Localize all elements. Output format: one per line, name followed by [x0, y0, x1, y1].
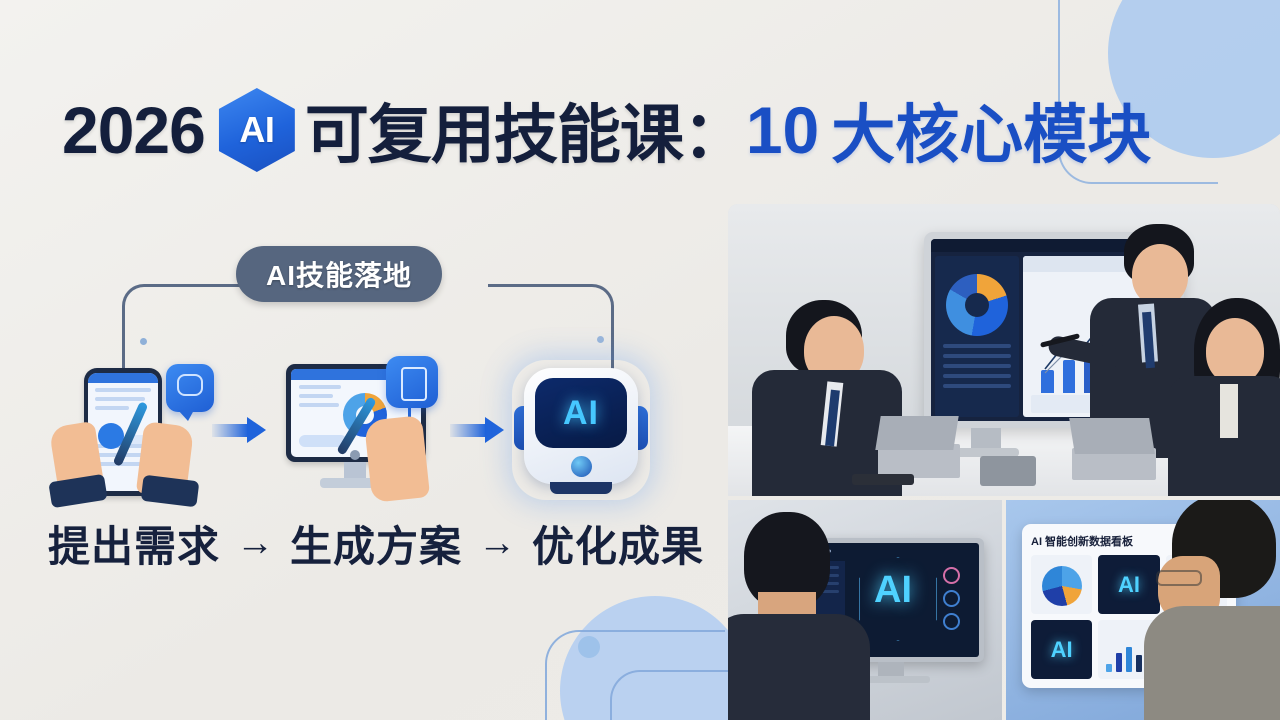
metric-ring [943, 613, 960, 630]
blouse [1220, 384, 1238, 438]
bar [1106, 664, 1112, 672]
bar [1126, 647, 1132, 672]
title-main-dark: 可复用技能课： [305, 84, 746, 176]
step-label-2: 生成方案 [290, 513, 462, 574]
monitor-text-line [299, 385, 341, 389]
torso [728, 614, 870, 720]
title-number: 10 [746, 92, 819, 168]
right-sleeve [141, 475, 200, 508]
flow-caption: 提出需求 → 生成方案 → 优化成果 [48, 513, 704, 574]
phone-text-line [95, 406, 129, 410]
torso [1144, 606, 1280, 720]
robot-base [550, 482, 612, 494]
person-viewing [1150, 500, 1280, 720]
chat-glyph [177, 374, 203, 396]
monitor-text-line [299, 394, 333, 398]
sidebar-line [943, 354, 1011, 358]
phone-text-line [95, 397, 145, 401]
robot-screen-label: AI [563, 394, 599, 433]
monitor-text-line [299, 403, 339, 407]
bar [1136, 655, 1142, 672]
donut-chart [946, 274, 1008, 336]
title-year: 2026 [62, 92, 205, 168]
phone-stylus-icon [40, 350, 210, 510]
caption-arrow-icon-2: → [478, 522, 516, 565]
arrow-shaft [450, 424, 486, 437]
arrow-head [485, 417, 504, 443]
arrow-head [247, 417, 266, 443]
arrow-shaft [212, 424, 248, 437]
ai-hologram-photo: ● ● ● AI [728, 500, 1002, 720]
page-title: 2026 AI 可复用技能课： 10 大核心模块 [62, 84, 1151, 176]
tablet-device-icon [386, 356, 438, 408]
robot-button [571, 456, 592, 477]
desk-item [852, 474, 914, 485]
caption-arrow-icon-1: → [236, 522, 274, 565]
face [1206, 318, 1264, 384]
imac-neck [971, 428, 1001, 450]
chat-bubble-icon [166, 364, 214, 412]
person-viewing [728, 510, 860, 720]
ai-robot-icon: AI [506, 350, 656, 510]
ai-badge-label: AI [239, 109, 274, 151]
glasses-icon [1156, 570, 1202, 586]
ai-board-photo: AI 智能创新数据看板 AI AI [1006, 500, 1280, 720]
pill-label: AI技能落地 [266, 254, 412, 294]
monitor-chart-icon [268, 350, 448, 510]
monitor-logo-dot [350, 450, 360, 460]
status-badge-pill: AI技能落地 [236, 246, 442, 302]
arrow-right-icon-1 [212, 417, 266, 443]
laptop-screen-right [1069, 418, 1155, 454]
hand-pointing [364, 415, 430, 503]
sidebar-line [943, 344, 1011, 348]
phone-text-line [95, 388, 151, 392]
flow-diagram: AI [40, 350, 700, 510]
step-label-3: 优化成果 [532, 513, 704, 574]
sidebar-line [943, 374, 1011, 378]
metric-ring [943, 590, 960, 607]
ai-hexagon-badge-icon: AI [219, 88, 295, 172]
robot-face-screen: AI [535, 378, 627, 448]
decor-line-bottom-outer [545, 630, 725, 720]
decor-circle-bottom-center [560, 596, 750, 720]
sidebar-line [943, 384, 1011, 388]
phone-topbar [88, 373, 158, 383]
bar [1116, 653, 1122, 672]
laptop-screen-left [875, 416, 958, 450]
sidebar-line [943, 364, 1011, 368]
meeting-dashboard-photo [728, 204, 1280, 496]
ai-tile-label: AI [1118, 572, 1140, 598]
metric-ring [943, 567, 960, 584]
arrow-right-icon-2 [450, 417, 504, 443]
slide-canvas: 2026 AI 可复用技能课： 10 大核心模块 AI技能落地 [0, 0, 1280, 720]
ai-tile-bottom: AI [1031, 620, 1092, 679]
decor-dot-bottom [578, 636, 600, 658]
face [1132, 244, 1188, 306]
robot-head: AI [524, 368, 638, 484]
pie-chart [1042, 566, 1082, 606]
pie-chart-card [1031, 555, 1092, 614]
screen-right-panel [927, 561, 975, 651]
photo-collage: ● ● ● AI [728, 204, 1280, 720]
dashboard-sidebar [935, 256, 1019, 417]
ai-tile-label: AI [1051, 637, 1073, 663]
desk-stand [980, 456, 1036, 486]
title-main-blue: 大核心模块 [831, 84, 1151, 176]
step-label-1: 提出需求 [48, 513, 220, 574]
